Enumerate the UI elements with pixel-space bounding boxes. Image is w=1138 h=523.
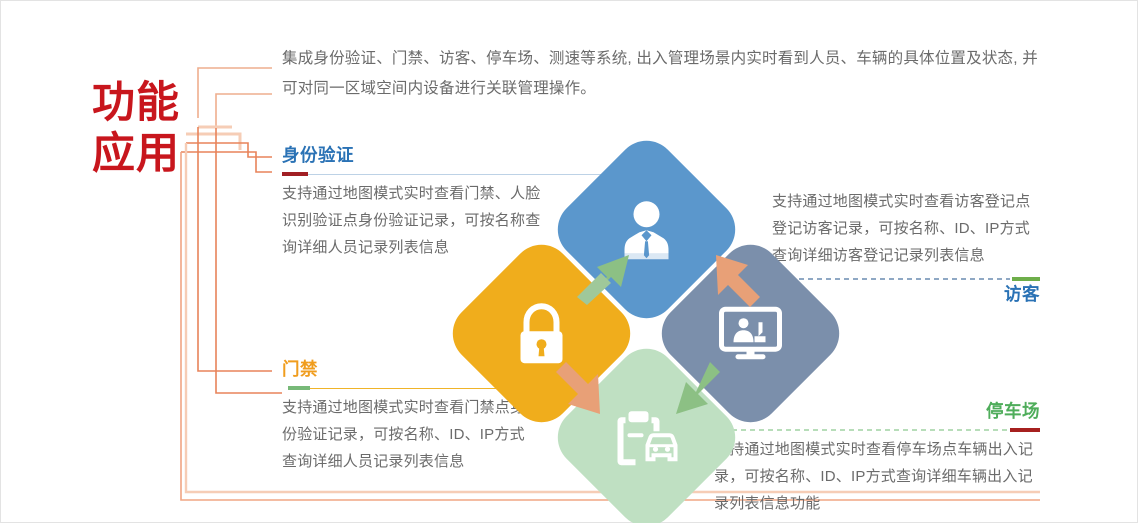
arrow-parking-to-access (548, 358, 618, 420)
page-border-top (0, 0, 1138, 1)
rule-dotted-line (772, 278, 1010, 280)
arrow-visitor-to-parking (658, 358, 726, 420)
section-identity: 身份验证 支持通过地图模式实时查看门禁、人脸识别验证点身份验证记录，可按名称查询… (282, 144, 546, 261)
arrow-identity-to-visitor (700, 247, 768, 307)
section-identity-body: 支持通过地图模式实时查看门禁、人脸识别验证点身份验证记录，可按名称查询详细人员记… (282, 180, 546, 261)
section-parking-rule (714, 428, 1040, 432)
rule-line-segment (308, 174, 622, 176)
page-border-left (0, 0, 1, 523)
section-identity-title: 身份验证 (282, 144, 546, 166)
monitor-person-icon (719, 306, 783, 362)
section-visitor-rule (772, 277, 1040, 281)
page-title-line-1: 功能 (92, 78, 202, 129)
section-access-control-body: 支持通过地图模式实时查看门禁点身份验证记录，可按名称、ID、IP方式查询详细人员… (282, 394, 534, 475)
section-visitor-body: 支持通过地图模式实时查看访客登记点登记访客记录，可按名称、ID、IP方式查询详细… (772, 188, 1040, 269)
page-title-line-2: 应用 (92, 129, 202, 180)
infographic-canvas: 功能 应用 集成身份验证、门禁、访客、停车场、测速等系统, 出入管理场景内实时看… (0, 0, 1138, 523)
page-title: 功能 应用 (92, 78, 202, 179)
rule-accent-segment (1012, 277, 1040, 281)
section-visitor: 支持通过地图模式实时查看访客登记点登记访客记录，可按名称、ID、IP方式查询详细… (772, 188, 1040, 305)
lock-icon (514, 302, 570, 366)
arrow-access-to-identity (573, 247, 641, 307)
rule-accent-segment (288, 386, 310, 390)
rule-accent-segment (282, 172, 308, 176)
section-identity-rule (282, 172, 622, 176)
rule-accent-segment (1010, 428, 1040, 432)
rule-dotted-line (714, 429, 1010, 431)
section-parking-body: 支持通过地图模式实时查看停车场点车辆出入记录，可按名称、ID、IP方式查询详细车… (714, 436, 1040, 517)
intro-paragraph: 集成身份验证、门禁、访客、停车场、测速等系统, 出入管理场景内实时看到人员、车辆… (282, 44, 1050, 104)
